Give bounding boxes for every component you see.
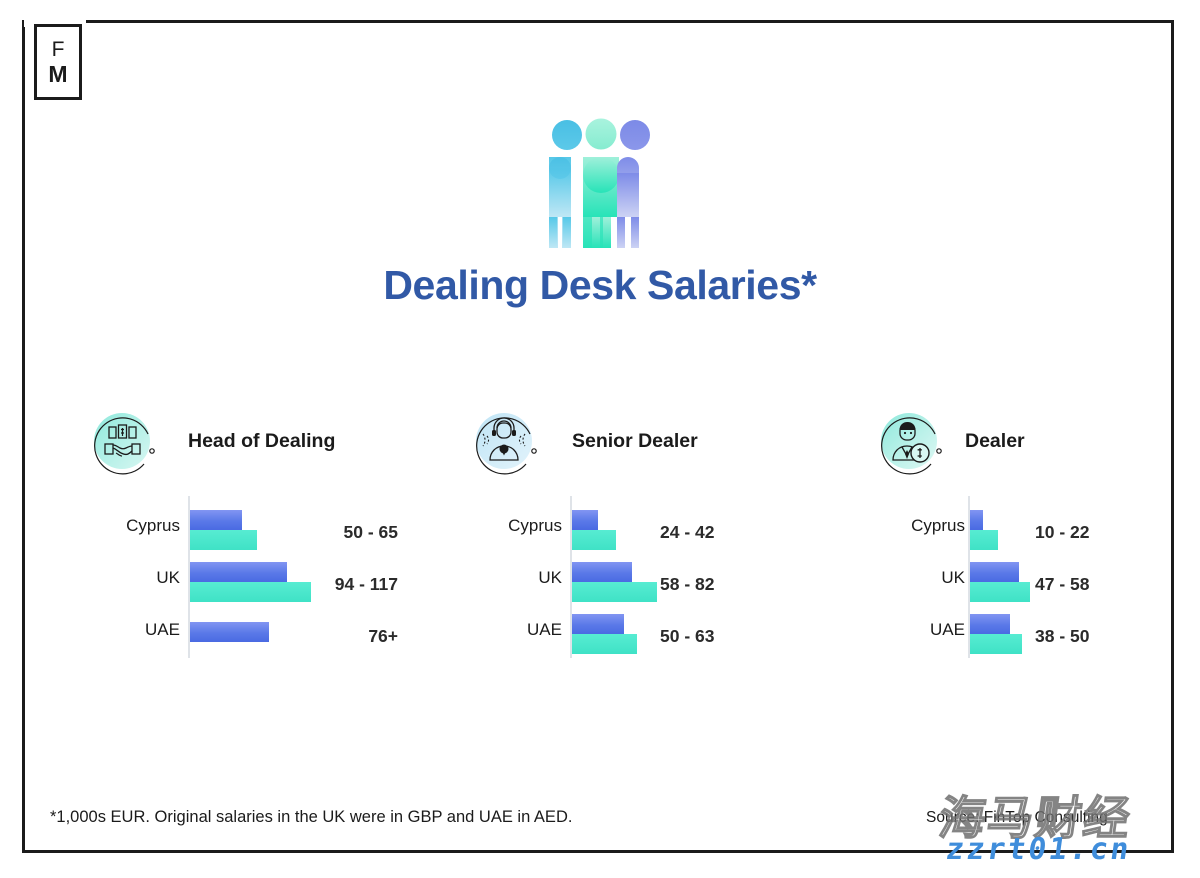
group-header: Senior Dealer [470,400,770,492]
bar-low [572,510,598,530]
bar-row-value: 58 - 82 [660,574,770,595]
three-people-icon [536,118,666,250]
bar-pair [970,614,1022,654]
bar-row: UK 58 - 82 [470,556,770,608]
group-title: Dealer [965,430,1025,453]
role-group-head-of-dealing: Head of Dealing Cyprus 50 - 65 UK 94 - 1… [88,400,398,662]
group-header: Dealer [875,400,1165,492]
group-title: Head of Dealing [188,430,335,453]
fm-logo-line2: M [48,63,67,86]
bar-low [970,614,1010,634]
bar-chart: Cyprus 24 - 42 UK 58 - 82 UAE 50 - 63 [470,492,770,662]
bar-row: UAE 38 - 50 [875,608,1165,660]
fm-logo: F M [34,24,82,100]
dealer-coin-icon [875,406,947,478]
bar-row: Cyprus 50 - 65 [88,504,398,556]
bar-chart: Cyprus 10 - 22 UK 47 - 58 UAE 38 - 50 [875,492,1165,662]
bar-row-label: UK [875,568,965,588]
bar-low [970,510,983,530]
bar-row: UAE 50 - 63 [470,608,770,660]
bar-row: Cyprus 10 - 22 [875,504,1165,556]
bar-low [190,510,242,530]
bar-row-label: Cyprus [875,516,965,536]
bar-row-label: UAE [875,620,965,640]
bar-row-label: UK [470,568,562,588]
bar-pair [572,614,637,654]
bar-row: UAE 76+ [88,608,398,660]
group-header: Head of Dealing [88,400,398,492]
bar-row: UK 47 - 58 [875,556,1165,608]
bar-chart: Cyprus 50 - 65 UK 94 - 117 UAE 76+ [88,492,398,662]
source-credit: Source: FinTop Consulting [926,809,1108,827]
bar-pair [572,510,616,550]
bar-low [572,614,624,634]
bar-row-value: 76+ [288,626,398,647]
bar-row: UK 94 - 117 [88,556,398,608]
bar-high [970,530,998,550]
bar-row-value: 47 - 58 [1035,574,1155,595]
bar-pair [572,562,657,602]
bar-row-label: UAE [470,620,562,640]
bar-high [190,530,257,550]
bar-pair [970,510,998,550]
bar-row-value: 50 - 65 [288,522,398,543]
bar-row-value: 50 - 63 [660,626,770,647]
bar-low [190,622,269,642]
bar-pair [970,562,1030,602]
bar-row-label: UAE [88,620,180,640]
bar-row: Cyprus 24 - 42 [470,504,770,556]
bar-row-value: 10 - 22 [1035,522,1155,543]
bar-low [572,562,632,582]
handshake-money-icon [88,406,160,478]
page-title: Dealing Desk Salaries* [0,262,1200,309]
bar-high [572,582,657,602]
bar-high [572,530,616,550]
footnote: *1,000s EUR. Original salaries in the UK… [50,808,572,827]
role-group-senior-dealer: Senior Dealer Cyprus 24 - 42 UK 58 - 82 … [470,400,770,662]
bar-pair [190,510,257,550]
fm-logo-line1: F [52,39,65,60]
bar-high [970,582,1030,602]
role-group-dealer: Dealer Cyprus 10 - 22 UK 47 - 58 UAE [875,400,1165,662]
bar-pair [190,622,269,642]
bar-row-value: 38 - 50 [1035,626,1155,647]
bar-high [572,634,637,654]
bar-row-label: Cyprus [88,516,180,536]
headset-agent-icon [470,406,542,478]
bar-low [970,562,1019,582]
bar-high [970,634,1022,654]
group-title: Senior Dealer [572,430,698,453]
bar-row-value: 24 - 42 [660,522,770,543]
bar-row-label: UK [88,568,180,588]
bar-row-label: Cyprus [470,516,562,536]
bar-row-value: 94 - 117 [288,574,398,595]
bar-low [190,562,287,582]
